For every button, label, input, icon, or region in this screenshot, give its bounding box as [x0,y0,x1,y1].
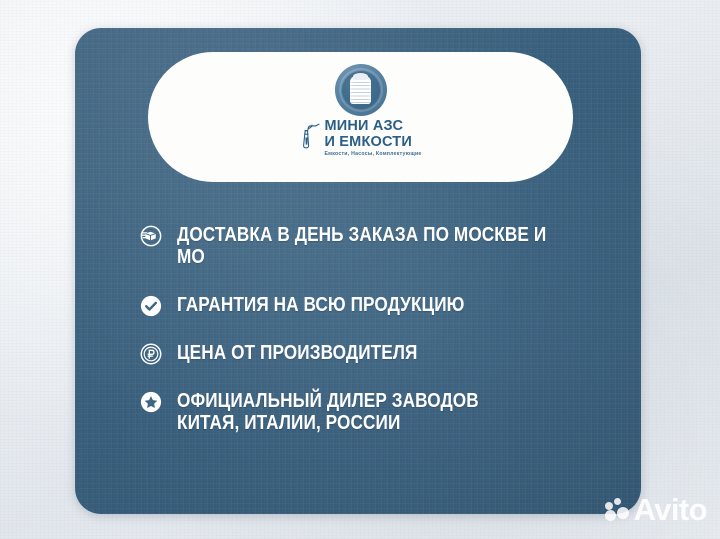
check-circle-icon [140,295,162,317]
delivery-box-icon [140,225,162,247]
feature-item: ЦЕНА ОТ ПРОИЗВОДИТЕЛЯ [140,342,621,365]
feature-list: ДОСТАВКА В ДЕНЬ ЗАКАЗА ПО МОСКВЕ И МО ГА… [140,224,621,435]
feature-text: ЦЕНА ОТ ПРОИЗВОДИТЕЛЯ [177,342,417,364]
tank-vessel-icon [350,76,371,104]
logo-panel: МИНИ АЗС И ЕМКОСТИ Емкости, Насосы, Комп… [148,52,573,182]
company-logo: МИНИ АЗС И ЕМКОСТИ Емкости, Насосы, Комп… [296,62,426,172]
poster-canvas: МИНИ АЗС И ЕМКОСТИ Емкости, Насосы, Комп… [0,0,720,539]
wordmark-row: МИНИ АЗС И ЕМКОСТИ Емкости, Насосы, Комп… [299,119,421,157]
feature-text: ОФИЦИАЛЬНЫЙ ДИЛЕР ЗАВОДОВ КИТАЯ, ИТАЛИИ,… [177,390,479,435]
brand-tagline: Емкости, Насосы, Комплектующие [324,152,421,157]
feature-item: ОФИЦИАЛЬНЫЙ ДИЛЕР ЗАВОДОВ КИТАЯ, ИТАЛИИ,… [140,390,621,435]
feature-item: ДОСТАВКА В ДЕНЬ ЗАКАЗА ПО МОСКВЕ И МО [140,224,621,269]
fuel-nozzle-icon [299,120,321,150]
brand-line-1: МИНИ АЗС [324,119,421,134]
brand-line-2: И ЕМКОСТИ [324,135,421,150]
star-circle-icon [140,391,162,413]
fuel-tank-emblem [335,64,387,116]
ruble-coin-icon [140,343,162,365]
wordmark-text: МИНИ АЗС И ЕМКОСТИ Емкости, Насосы, Комп… [324,119,421,157]
feature-text: ГАРАНТИЯ НА ВСЮ ПРОДУКЦИЮ [177,294,464,316]
avito-wordmark: Avito [634,494,707,525]
blue-card: МИНИ АЗС И ЕМКОСТИ Емкости, Насосы, Комп… [75,28,641,514]
feature-item: ГАРАНТИЯ НА ВСЮ ПРОДУКЦИЮ [140,294,621,317]
feature-text: ДОСТАВКА В ДЕНЬ ЗАКАЗА ПО МОСКВЕ И МО [177,224,559,269]
